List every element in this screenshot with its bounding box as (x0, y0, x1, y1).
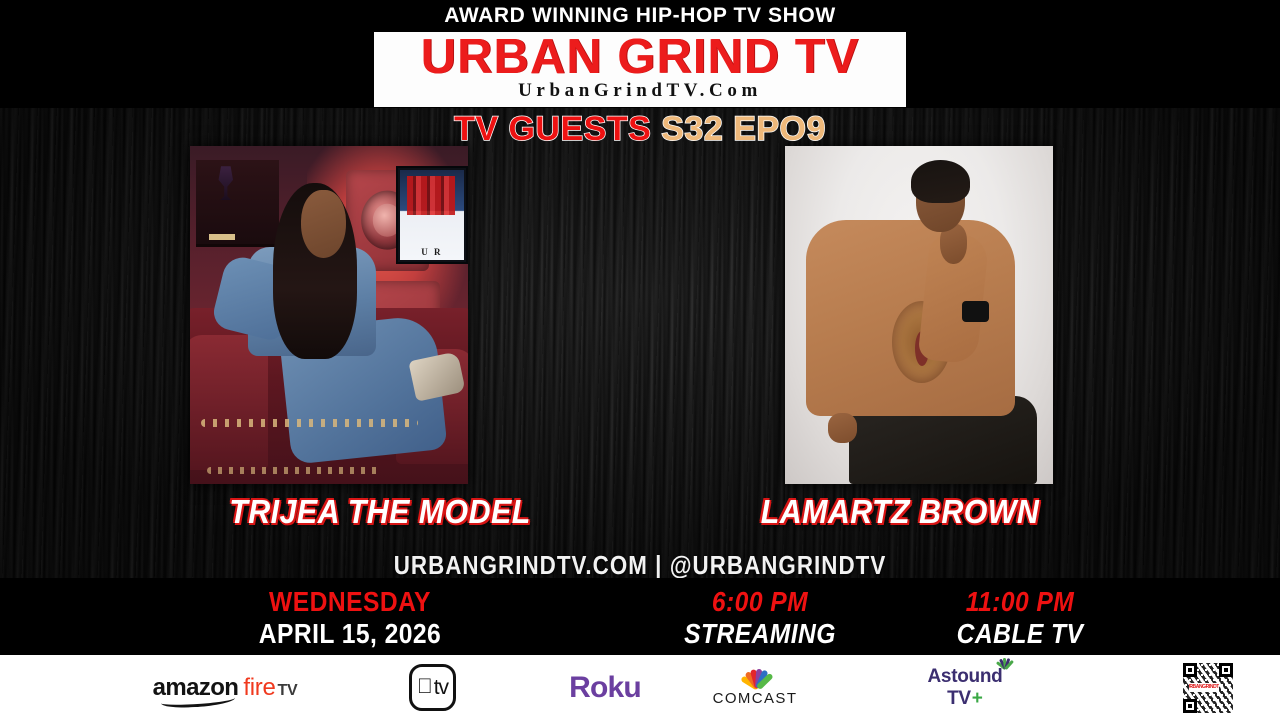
qr-code-graphic: URBANGRINDTV (1183, 663, 1233, 713)
fire-wordmark: fire (243, 674, 275, 702)
schedule-day: WEDNESDAY (209, 586, 491, 618)
qr-center-label: URBANGRINDTV (1189, 683, 1219, 692)
streaming-label: STREAMING (619, 618, 901, 650)
logo-wordmark: URBAN GRIND TV (374, 32, 906, 84)
tv-guests-label: TV GUESTS (454, 110, 651, 148)
logo-website: UrbanGrindTV.Com (374, 80, 906, 102)
wristwatch (962, 301, 989, 321)
astound-plus-icon: + (972, 688, 983, 710)
apple-tv-text: tv (434, 676, 448, 700)
cable-time: 11:00 PM (879, 586, 1161, 618)
show-tagline: AWARD WINNING HIP-HOP TV SHOW (0, 4, 1280, 28)
guest-hand-lower (828, 413, 857, 443)
astound-row-bottom: TV + (947, 688, 983, 710)
chair-studs-lower (207, 467, 379, 474)
qr-finder-top-left (1183, 663, 1197, 677)
schedule-cable-column: 11:00 PM CABLE TV (860, 586, 1180, 650)
urban-grind-tv-logo: URBAN GRIND TV UrbanGrindTV.Com (374, 32, 906, 107)
comcast-wordmark: COMCAST (713, 690, 798, 707)
website-social-line[interactable]: URBANGRINDTV.COM | @URBANGRINDTV (90, 550, 1191, 581)
chair-studs-upper (201, 419, 418, 427)
guest-name-right: LAMARTZ BROWN (716, 493, 1084, 531)
schedule-full-date: APRIL 15, 2026 (209, 618, 491, 650)
apple-icon:  (417, 676, 433, 697)
apple-tv-rounded-box:  tv (409, 664, 456, 711)
monitor-text: U R (398, 247, 466, 257)
astound-tv-plus-logo[interactable]: Astound TV + (890, 655, 1040, 720)
chair-arm-left (190, 335, 268, 470)
guest-photo-left: U R (190, 146, 468, 484)
roku-logo[interactable]: Roku (540, 655, 670, 720)
episode-headline: TV GUESTS S32 EPO9 (0, 110, 1280, 149)
astound-tv-text: TV (947, 688, 971, 710)
season-episode-label: S32 EPO9 (661, 110, 826, 148)
guest-name-left: TRIJEA THE MODEL (196, 493, 564, 531)
guest-face (301, 190, 345, 258)
studio-shelf (196, 160, 279, 248)
schedule-band: WEDNESDAY APRIL 15, 2026 6:00 PM STREAMI… (0, 578, 1280, 655)
nbc-peacock-icon (734, 668, 776, 688)
guest-hair (911, 160, 970, 204)
trophy-base (209, 234, 235, 240)
qr-finder-top-right (1219, 663, 1233, 677)
qr-finder-bottom-left (1183, 699, 1197, 713)
astound-burst-icon (990, 653, 1018, 671)
streaming-time: 6:00 PM (619, 586, 901, 618)
amazon-fire-tv-logo[interactable]: amazon fire TV (130, 655, 320, 720)
studio-monitor: U R (396, 166, 468, 264)
schedule-date-column: WEDNESDAY APRIL 15, 2026 (190, 586, 510, 650)
apple-tv-logo[interactable]:  tv (385, 655, 480, 720)
promo-poster: AWARD WINNING HIP-HOP TV SHOW URBAN GRIN… (0, 0, 1280, 720)
roku-wordmark: Roku (569, 671, 641, 705)
monitor-logo-graphic (407, 176, 455, 215)
qr-code[interactable]: URBANGRINDTV (1178, 655, 1238, 720)
guest-names: TRIJEA THE MODEL LAMARTZ BROWN (0, 493, 1280, 535)
astound-row-top: Astound (928, 666, 1003, 688)
tv-wordmark: TV (278, 682, 298, 700)
guest-photo-right (785, 146, 1053, 484)
comcast-logo[interactable]: COMCAST (690, 655, 820, 720)
cable-label: CABLE TV (879, 618, 1161, 650)
platform-footer: amazon fire TV  tv Roku (0, 655, 1280, 720)
header-band: AWARD WINNING HIP-HOP TV SHOW URBAN GRIN… (0, 0, 1280, 108)
